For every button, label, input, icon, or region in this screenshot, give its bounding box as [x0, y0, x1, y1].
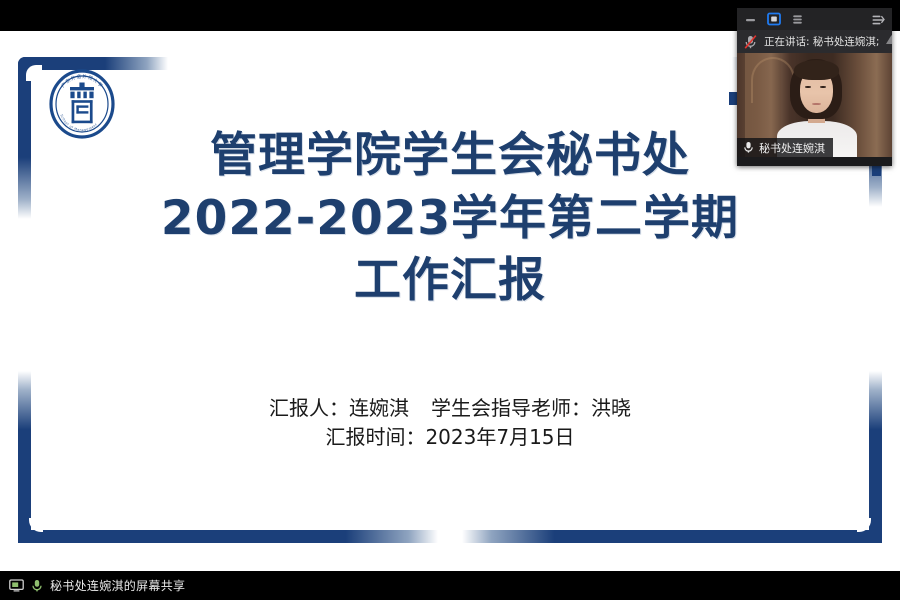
presenter-name: 连婉淇	[349, 396, 409, 420]
maximize-restore-icon[interactable]	[767, 12, 781, 26]
expand-panel-icon[interactable]	[871, 13, 885, 26]
slide-date-line: 汇报时间：2023年7月15日	[0, 423, 900, 452]
screen-share-icon	[9, 579, 24, 592]
video-background-arc	[751, 57, 795, 103]
presenter-label: 汇报人：	[269, 396, 349, 420]
audio-waveform-icon	[885, 32, 892, 51]
active-speaker-text: 正在讲话: 秘书处连婉淇;	[764, 34, 879, 49]
microphone-icon	[31, 579, 43, 593]
slide-subtitle-block: 汇报人：连婉淇学生会指导老师：洪晓 汇报时间：2023年7月15日	[0, 394, 900, 452]
advisor-label: 学生会指导老师：	[431, 396, 591, 420]
slide-title-line-3: 工作汇报	[0, 254, 900, 309]
video-person-fringe	[794, 60, 839, 80]
screen-share-view: 广东外语外贸大学 School of Management	[0, 0, 900, 600]
date-value: 2023年7月15日	[425, 425, 574, 449]
slide-bracket-bottom-right-horizontal	[462, 530, 882, 543]
bottom-status-bar: 秘书处连婉淇的屏幕共享	[0, 571, 900, 600]
slide-title-line-2: 2022-2023学年第二学期	[0, 192, 900, 247]
participant-video-feed[interactable]: 秘书处连婉淇	[737, 53, 892, 157]
layout-list-icon[interactable]	[791, 13, 804, 26]
slide-presenter-line: 汇报人：连婉淇学生会指导老师：洪晓	[0, 394, 900, 423]
advisor-name: 洪晓	[591, 396, 631, 420]
minimize-icon[interactable]	[744, 13, 757, 26]
active-speaker-banner: 正在讲话: 秘书处连婉淇;	[737, 30, 892, 53]
slide-bracket-bottom-left-inner-corner	[29, 518, 43, 532]
participant-name-badge: 秘书处连婉淇	[737, 138, 833, 157]
slide-bracket-top-left-inner-corner	[26, 65, 42, 81]
screen-share-status-text: 秘书处连婉淇的屏幕共享	[50, 577, 185, 594]
slide-bracket-bottom-right-inner-corner	[857, 518, 871, 532]
slide-bracket-bottom-left-horizontal	[18, 530, 438, 543]
microphone-icon	[743, 141, 754, 154]
video-panel-toolbar	[737, 8, 892, 30]
microphone-muted-icon	[743, 34, 758, 50]
floating-video-panel[interactable]: 正在讲话: 秘书处连婉淇;	[737, 8, 892, 166]
date-label: 汇报时间：	[325, 425, 425, 449]
participant-name-text: 秘书处连婉淇	[759, 140, 825, 156]
